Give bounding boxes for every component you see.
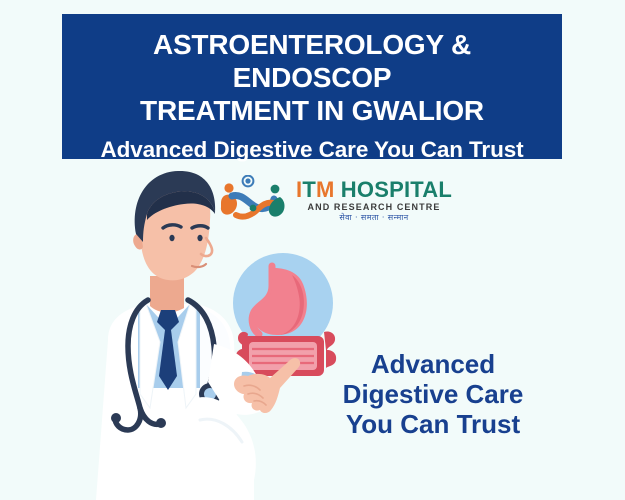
hospital-logo: ITM HOSPITAL AND RESEARCH CENTRE सेवा · … xyxy=(218,172,428,228)
stethoscope-tip-right xyxy=(156,418,166,428)
logo-letter-m: M xyxy=(316,177,335,202)
banner-title: ASTROENTEROLOGY & ENDOSCOP TREATMENT IN … xyxy=(72,28,552,127)
logo-head-blue xyxy=(245,178,250,183)
logo-wordmark: ITM HOSPITAL AND RESEARCH CENTRE सेवा · … xyxy=(296,179,452,222)
logo-center-dot xyxy=(250,205,257,212)
logo-hindi-tagline: सेवा · समता · सन्मान xyxy=(296,214,452,222)
poster-canvas: ASTROENTEROLOGY & ENDOSCOP TREATMENT IN … xyxy=(0,0,625,500)
logo-head-orange xyxy=(224,183,233,192)
stethoscope-tip-left xyxy=(111,413,121,423)
doctor-neck xyxy=(150,276,184,312)
doctor-eye-left xyxy=(169,235,174,241)
logo-word-hospital: HOSPITAL xyxy=(341,177,452,202)
headline-banner: ASTROENTEROLOGY & ENDOSCOP TREATMENT IN … xyxy=(62,14,562,159)
logo-name: ITM HOSPITAL xyxy=(296,179,452,201)
intestine-right-coils xyxy=(324,331,336,368)
logo-letter-t: T xyxy=(302,177,316,202)
tagline-text: Advanced Digestive Care You Can Trust xyxy=(338,349,528,439)
logo-mark-icon xyxy=(218,175,290,225)
doctor-eye-right xyxy=(197,235,202,241)
logo-subtitle: AND RESEARCH CENTRE xyxy=(296,203,452,212)
logo-head-green xyxy=(271,185,280,194)
